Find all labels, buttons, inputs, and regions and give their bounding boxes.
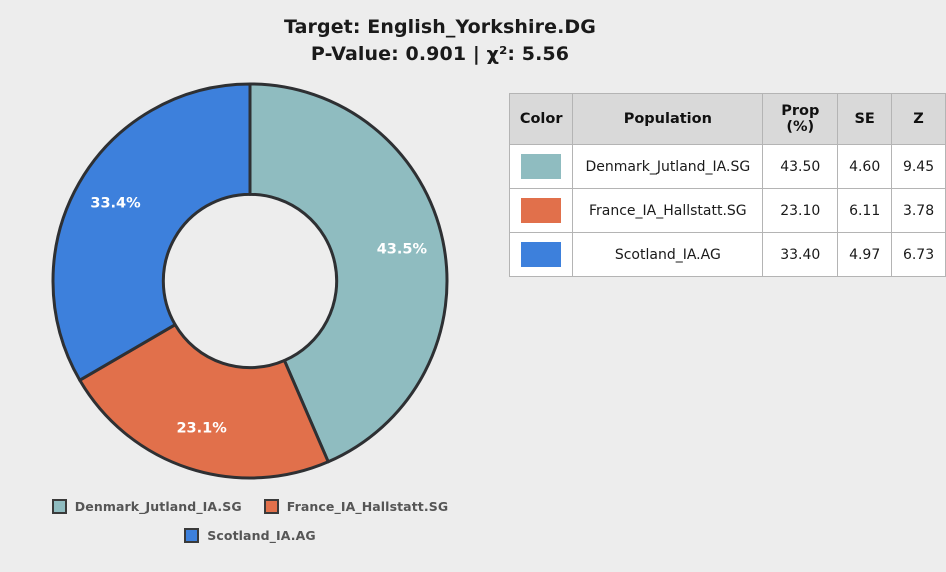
statistics-table: Color Population Prop (%) SE Z Denmark_J… <box>509 93 946 277</box>
donut-slice-label: 23.1% <box>176 420 227 436</box>
donut-chart: 43.5%23.1%33.4% <box>50 81 450 481</box>
table-cell-se: 4.60 <box>838 145 892 189</box>
table-body: Denmark_Jutland_IA.SG43.504.609.45France… <box>510 145 946 277</box>
table-color-swatch <box>521 154 561 179</box>
table-cell-color <box>510 233 573 277</box>
donut-slice-label: 43.5% <box>377 242 428 258</box>
table-header-row: Color Population Prop (%) SE Z <box>510 94 946 145</box>
chart-legend: Denmark_Jutland_IA.SGFrance_IA_Hallstatt… <box>0 492 500 550</box>
table-cell-population: France_IA_Hallstatt.SG <box>573 189 763 233</box>
legend-color-swatch <box>264 499 279 514</box>
donut-slices <box>53 84 447 478</box>
table-cell-prop: 33.40 <box>763 233 838 277</box>
donut-slice[interactable] <box>53 84 250 380</box>
table-row: France_IA_Hallstatt.SG23.106.113.78 <box>510 189 946 233</box>
table-cell-population: Scotland_IA.AG <box>573 233 763 277</box>
legend-item-label: Scotland_IA.AG <box>207 528 315 543</box>
table-cell-population: Denmark_Jutland_IA.SG <box>573 145 763 189</box>
legend-item-label: France_IA_Hallstatt.SG <box>287 499 448 514</box>
donut-chart-svg: 43.5%23.1%33.4% <box>50 81 450 481</box>
column-header-prop: Prop (%) <box>763 94 838 145</box>
legend-item[interactable]: France_IA_Hallstatt.SG <box>264 499 448 514</box>
table-row: Denmark_Jutland_IA.SG43.504.609.45 <box>510 145 946 189</box>
table-cell-color <box>510 145 573 189</box>
table-cell-prop: 43.50 <box>763 145 838 189</box>
table-header: Color Population Prop (%) SE Z <box>510 94 946 145</box>
chart-title-block: Target: English_Yorkshire.DG P-Value: 0.… <box>0 14 880 68</box>
column-header-z: Z <box>892 94 946 145</box>
column-header-se: SE <box>838 94 892 145</box>
page-title: Target: English_Yorkshire.DG <box>0 14 880 41</box>
table-cell-z: 3.78 <box>892 189 946 233</box>
table-cell-z: 6.73 <box>892 233 946 277</box>
legend-color-swatch <box>184 528 199 543</box>
table-row: Scotland_IA.AG33.404.976.73 <box>510 233 946 277</box>
table-cell-color <box>510 189 573 233</box>
page-subtitle: P-Value: 0.901 | χ²: 5.56 <box>0 41 880 68</box>
legend-item[interactable]: Scotland_IA.AG <box>184 528 315 543</box>
legend-color-swatch <box>52 499 67 514</box>
legend-row: Denmark_Jutland_IA.SGFrance_IA_Hallstatt… <box>0 492 500 521</box>
table-cell-se: 4.97 <box>838 233 892 277</box>
table-cell-z: 9.45 <box>892 145 946 189</box>
legend-item[interactable]: Denmark_Jutland_IA.SG <box>52 499 242 514</box>
column-header-population: Population <box>573 94 763 145</box>
donut-slice-label: 33.4% <box>90 196 141 212</box>
table-cell-se: 6.11 <box>838 189 892 233</box>
table-color-swatch <box>521 198 561 223</box>
legend-item-label: Denmark_Jutland_IA.SG <box>75 499 242 514</box>
table-color-swatch <box>521 242 561 267</box>
table-cell-prop: 23.10 <box>763 189 838 233</box>
column-header-color: Color <box>510 94 573 145</box>
legend-row: Scotland_IA.AG <box>0 521 500 550</box>
